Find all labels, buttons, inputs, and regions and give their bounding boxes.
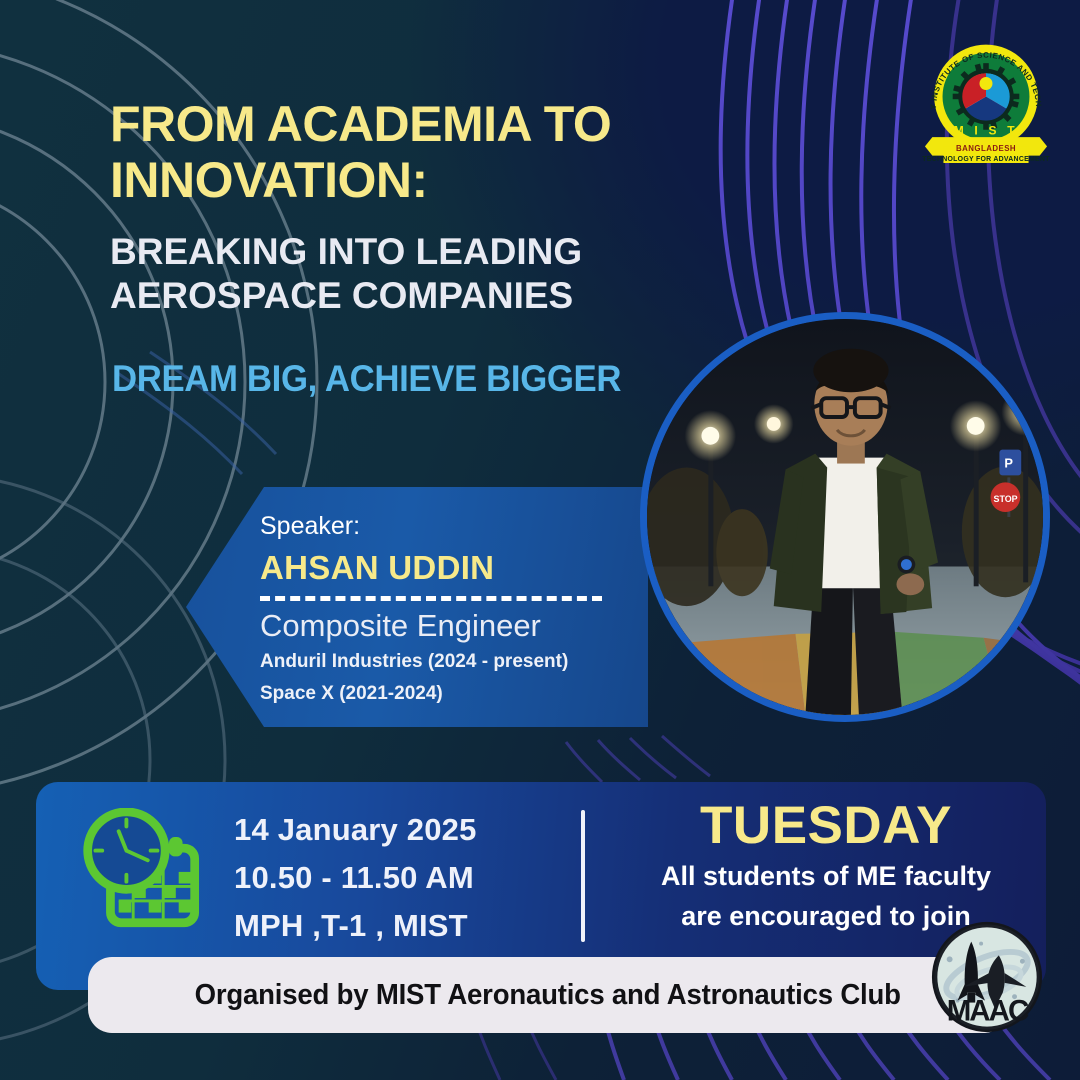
organiser-bar: Organised by MIST Aeronautics and Astron…: [88, 957, 1008, 1033]
svg-text:P: P: [1004, 456, 1013, 471]
organiser-text: Organised by MIST Aeronautics and Astron…: [195, 979, 901, 1012]
headline-line-1: FROM ACADEMIA TO: [110, 96, 730, 152]
event-venue: MPH ,T-1 , MIST: [234, 902, 477, 950]
headline-line-2: INNOVATION:: [110, 152, 730, 208]
page-subtitle: BREAKING INTO LEADING AEROSPACE COMPANIE…: [110, 230, 730, 317]
event-date: 14 January 2025: [234, 806, 477, 854]
speaker-photo-inner: P STOP: [647, 319, 1043, 715]
speaker-photo-illustration: P STOP: [647, 319, 1043, 715]
subheadline-line-1: BREAKING INTO LEADING: [110, 230, 730, 274]
dashed-divider: [260, 596, 602, 601]
speaker-affiliation-1: Anduril Industries (2024 - present): [260, 648, 648, 676]
event-poster: MILITARY INSTITUTE OF SCIENCE AND TECHNO…: [0, 0, 1080, 1080]
event-day-block: TUESDAY All students of ME faculty are e…: [626, 796, 1026, 935]
maac-monogram: MAAC: [947, 994, 1029, 1027]
speaker-banner: Speaker: AHSAN UDDIN Composite Engineer …: [186, 487, 648, 727]
speaker-label: Speaker:: [260, 513, 648, 541]
panel-divider: [581, 810, 585, 942]
event-time: 10.50 - 11.50 AM: [234, 854, 477, 902]
tagline: DREAM BIG, ACHIEVE BIGGER: [112, 358, 621, 400]
mist-motto: TECHNOLOGY FOR ADVANCEMENT: [922, 156, 1050, 163]
page-title: FROM ACADEMIA TO INNOVATION:: [110, 96, 730, 208]
mist-crest-logo: MILITARY INSTITUTE OF SCIENCE AND TECHNO…: [912, 28, 1060, 176]
panel-top-diagonals: [566, 736, 710, 782]
audience-line-1: All students of ME faculty: [626, 859, 1026, 895]
svg-text:STOP: STOP: [994, 494, 1018, 504]
mist-initials: M I S T: [954, 123, 1019, 137]
calendar-clock-icon: [76, 808, 202, 930]
speaker-role: Composite Engineer: [260, 609, 648, 643]
headline-group: FROM ACADEMIA TO INNOVATION: BREAKING IN…: [110, 96, 730, 317]
maac-club-logo: MAAC: [928, 918, 1046, 1036]
event-when-block: 14 January 2025 10.50 - 11.50 AM MPH ,T-…: [234, 806, 477, 950]
speaker-affiliation-2: Space X (2021-2024): [260, 680, 648, 708]
speaker-name: AHSAN UDDIN: [260, 549, 648, 587]
mist-country: BANGLADESH: [956, 144, 1016, 153]
subheadline-line-2: AEROSPACE COMPANIES: [110, 274, 730, 318]
speaker-photo: P STOP: [640, 312, 1050, 722]
event-day: TUESDAY: [626, 796, 1026, 855]
